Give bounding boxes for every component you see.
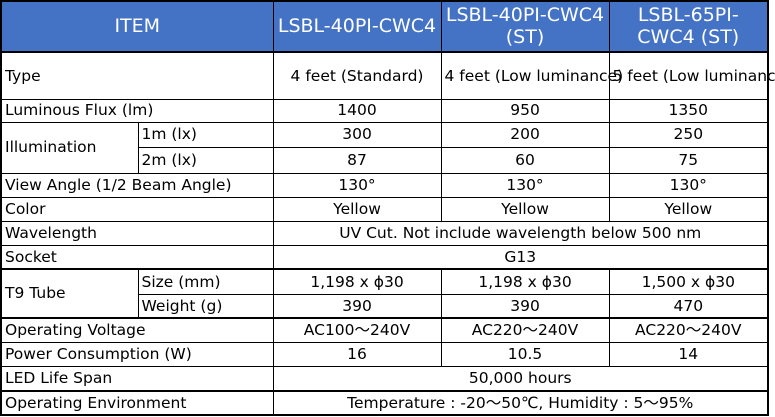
row-sublabel-weight: Weight (g) xyxy=(138,294,273,318)
table-row: Illumination 1m (lx) 300 200 250 xyxy=(1,122,768,147)
cell-luminous-flux-model-1: 1400 xyxy=(273,99,441,122)
cell-wavelength-merged: UV Cut. Not include wavelength below 500… xyxy=(273,221,768,245)
row-label-t9-tube: T9 Tube xyxy=(1,269,138,318)
header-cell-model-2: LSBL-40PI-CWC4 (ST) xyxy=(441,1,609,52)
row-label-socket: Socket xyxy=(1,245,273,269)
row-label-illumination: Illumination xyxy=(1,122,138,173)
cell-luminous-flux-model-2: 950 xyxy=(441,99,609,122)
table-row: Operating Environment Temperature : -20～… xyxy=(1,391,768,415)
table-row: Color Yellow Yellow Yellow xyxy=(1,197,768,221)
row-sublabel-illumination-2m: 2m (lx) xyxy=(138,147,273,173)
cell-illumination-1m-model-1: 300 xyxy=(273,122,441,147)
cell-illumination-1m-model-3: 250 xyxy=(609,122,768,147)
cell-power-consumption-model-3: 14 xyxy=(609,342,768,366)
cell-illumination-1m-model-2: 200 xyxy=(441,122,609,147)
cell-operating-voltage-model-2: AC220～240V xyxy=(441,318,609,342)
table-row: Wavelength UV Cut. Not include wavelengt… xyxy=(1,221,768,245)
cell-power-consumption-model-2: 10.5 xyxy=(441,342,609,366)
cell-weight-model-3: 470 xyxy=(609,294,768,318)
cell-color-model-3: Yellow xyxy=(609,197,768,221)
row-label-view-angle: View Angle (1/2 Beam Angle) xyxy=(1,173,273,197)
row-label-color: Color xyxy=(1,197,273,221)
table-row: Type 4 feet (Standard) 4 feet (Low lumin… xyxy=(1,52,768,99)
header-cell-model-3: LSBL-65PI-CWC4 (ST) xyxy=(609,1,768,52)
cell-illumination-2m-model-3: 75 xyxy=(609,147,768,173)
cell-color-model-1: Yellow xyxy=(273,197,441,221)
header-cell-item: ITEM xyxy=(1,1,273,52)
cell-size-model-3: 1,500 x ϕ30 xyxy=(609,269,768,294)
cell-weight-model-1: 390 xyxy=(273,294,441,318)
row-label-luminous-flux: Luminous Flux (lm) xyxy=(1,99,273,122)
table-row: View Angle (1/2 Beam Angle) 130° 130° 13… xyxy=(1,173,768,197)
cell-operating-voltage-model-1: AC100～240V xyxy=(273,318,441,342)
cell-led-life-span-merged: 50,000 hours xyxy=(273,366,768,391)
table-row: Luminous Flux (lm) 1400 950 1350 xyxy=(1,99,768,122)
cell-operating-environment-merged: Temperature : -20～50℃, Humidity : 5～95% xyxy=(273,391,768,415)
cell-power-consumption-model-1: 16 xyxy=(273,342,441,366)
table-row: Socket G13 xyxy=(1,245,768,269)
cell-illumination-2m-model-2: 60 xyxy=(441,147,609,173)
row-label-operating-voltage: Operating Voltage xyxy=(1,318,273,342)
row-label-operating-environment: Operating Environment xyxy=(1,391,273,415)
specification-table: ITEM LSBL-40PI-CWC4 LSBL-40PI-CWC4 (ST) … xyxy=(0,0,769,416)
table-header-row: ITEM LSBL-40PI-CWC4 LSBL-40PI-CWC4 (ST) … xyxy=(1,1,768,52)
cell-illumination-2m-model-1: 87 xyxy=(273,147,441,173)
cell-view-angle-model-1: 130° xyxy=(273,173,441,197)
row-label-led-life-span: LED Life Span xyxy=(1,366,273,391)
header-cell-model-1: LSBL-40PI-CWC4 xyxy=(273,1,441,52)
row-label-power-consumption: Power Consumption (W) xyxy=(1,342,273,366)
cell-socket-merged: G13 xyxy=(273,245,768,269)
table-row: T9 Tube Size (mm) 1,198 x ϕ30 1,198 x ϕ3… xyxy=(1,269,768,294)
view-angle-label-text: View Angle (1/2 Beam Angle) xyxy=(5,177,232,193)
cell-luminous-flux-model-3: 1350 xyxy=(609,99,768,122)
specification-table-container: ITEM LSBL-40PI-CWC4 LSBL-40PI-CWC4 (ST) … xyxy=(0,0,767,415)
table-row: Operating Voltage AC100～240V AC220～240V … xyxy=(1,318,768,342)
cell-view-angle-model-2: 130° xyxy=(441,173,609,197)
cell-size-model-2: 1,198 x ϕ30 xyxy=(441,269,609,294)
row-sublabel-size: Size (mm) xyxy=(138,269,273,294)
cell-weight-model-2: 390 xyxy=(441,294,609,318)
cell-color-model-2: Yellow xyxy=(441,197,609,221)
row-sublabel-illumination-1m: 1m (lx) xyxy=(138,122,273,147)
row-label-type: Type xyxy=(1,52,273,99)
table-row: Power Consumption (W) 16 10.5 14 xyxy=(1,342,768,366)
cell-type-model-2: 4 feet (Low luminance) xyxy=(441,52,609,99)
row-label-wavelength: Wavelength xyxy=(1,221,273,245)
cell-type-model-1: 4 feet (Standard) xyxy=(273,52,441,99)
cell-operating-voltage-model-3: AC220～240V xyxy=(609,318,768,342)
cell-view-angle-model-3: 130° xyxy=(609,173,768,197)
cell-size-model-1: 1,198 x ϕ30 xyxy=(273,269,441,294)
table-row: LED Life Span 50,000 hours xyxy=(1,366,768,391)
cell-type-model-3: 5 feet (Low luminance) xyxy=(609,52,768,99)
